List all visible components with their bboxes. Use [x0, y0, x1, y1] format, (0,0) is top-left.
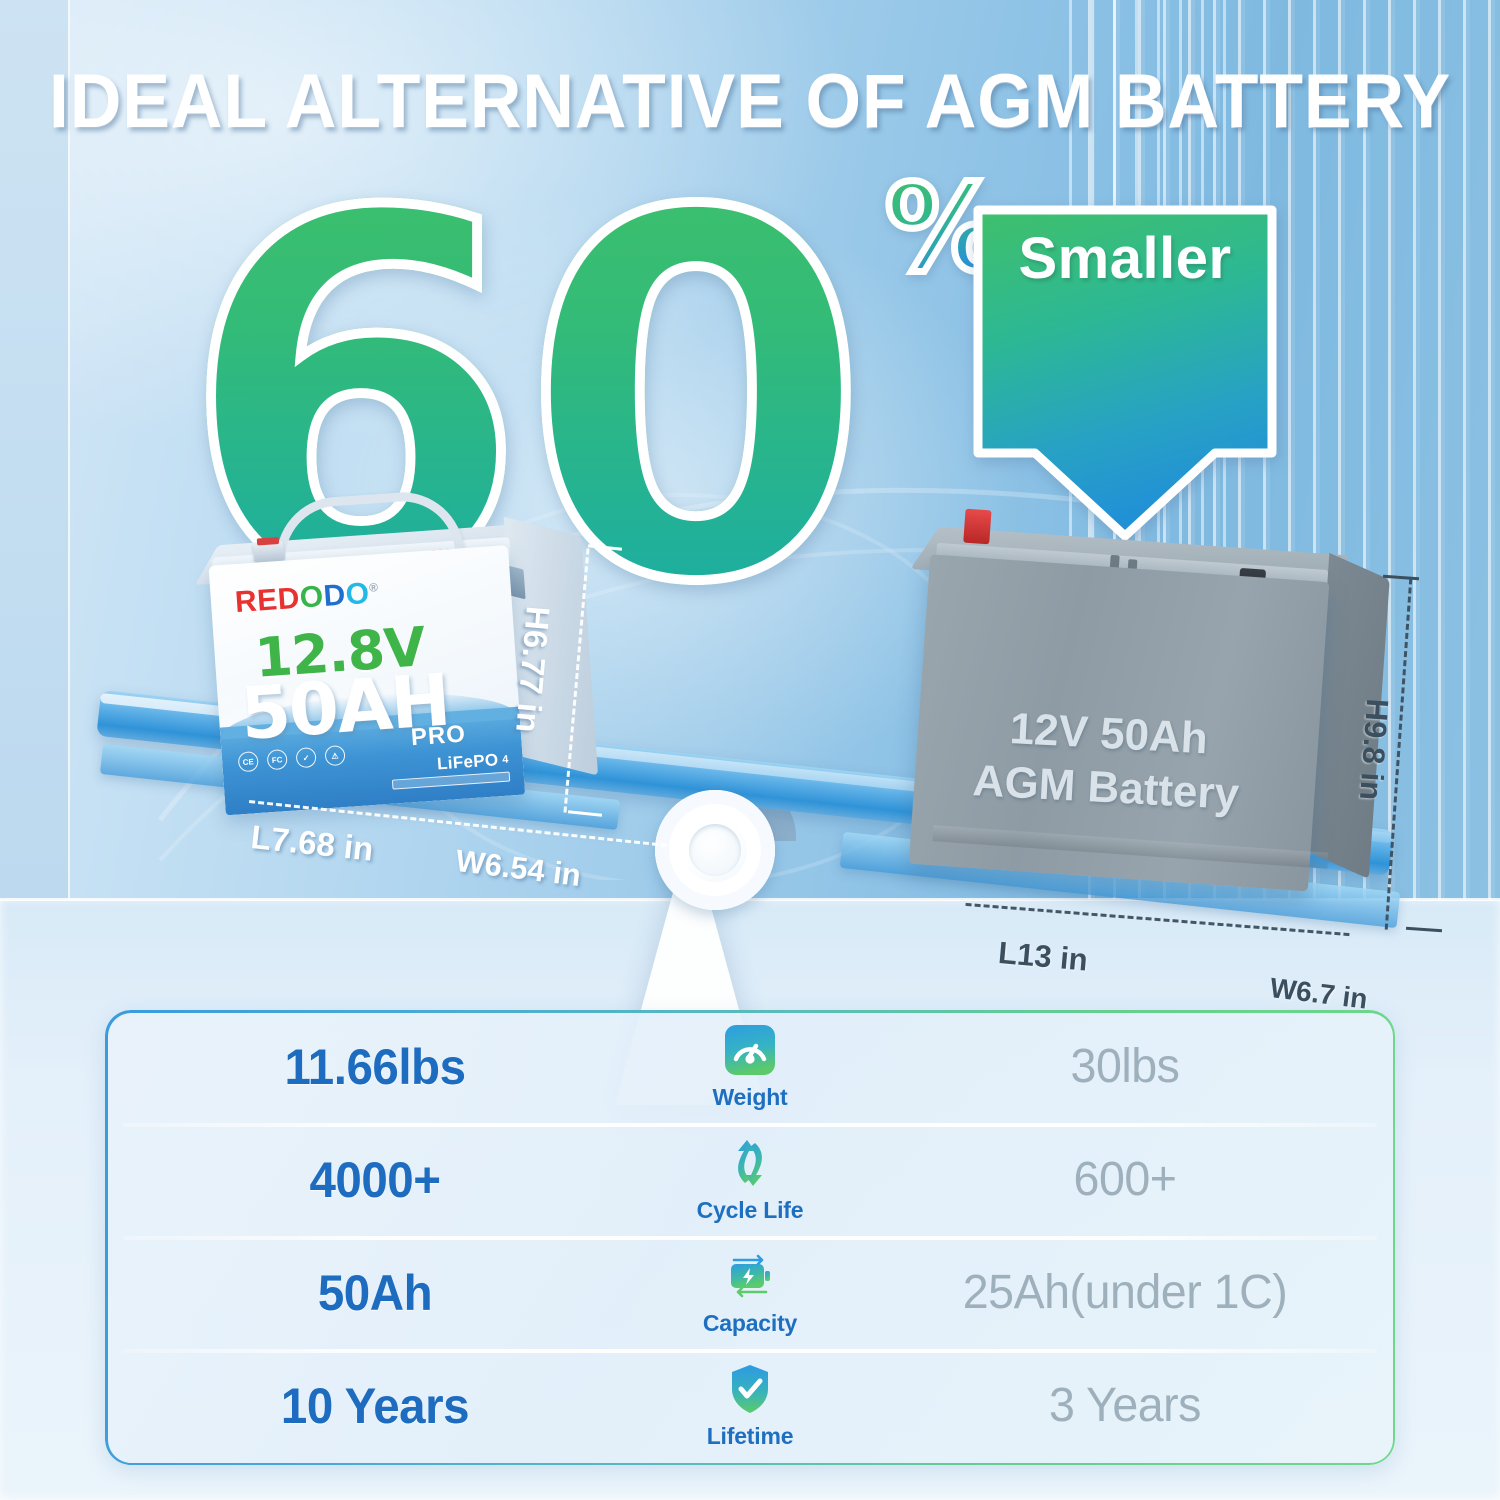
capacity-metric: Capacity [645, 1248, 855, 1337]
lifepo4-positive-cap [257, 537, 279, 546]
smaller-callout-label: Smaller [960, 198, 1290, 318]
lifepo4-front-label: REDODO® 12.8V 50AH PRO CE FC ✓ ⚠ LiFePO4 [209, 545, 526, 815]
weight-metric: Weight [645, 1022, 855, 1111]
cycle-life-metric: Cycle Life [645, 1135, 855, 1224]
fulcrum-pivot-disk [655, 790, 775, 910]
agm-label: 12V 50Ah AGM Battery [940, 699, 1275, 824]
shield-check-icon [722, 1361, 778, 1417]
cycle-life-agm-value: 600+ [863, 1152, 1387, 1207]
lifepo4-chemistry-text: LiFePO [436, 750, 499, 774]
cert-badge-check: ✓ [295, 747, 316, 768]
lifetime-metric-label: Lifetime [707, 1423, 794, 1450]
weight-lifepo4-value: 11.66lbs [119, 1038, 632, 1096]
comparison-row-weight: 11.66lbs Weight 30lbs [105, 1010, 1395, 1123]
logo-o1: O [299, 580, 325, 615]
cert-badge-ce: CE [238, 751, 259, 772]
lifetime-agm-value: 3 Years [863, 1378, 1387, 1433]
capacity-lifepo4-value: 50Ah [119, 1264, 632, 1322]
lifepo4-positive-terminal [253, 541, 284, 563]
comparison-row-cycle-life: 4000+ Cycle Life 600+ [105, 1123, 1395, 1236]
agm-length-label: L13 in [997, 935, 1089, 979]
capacity-metric-label: Capacity [703, 1310, 797, 1337]
lifepo4-chemistry-subscript: 4 [502, 754, 509, 766]
battery-bolt-icon [722, 1248, 778, 1304]
logo-o2: O [345, 577, 371, 612]
capacity-agm-value: 25Ah(under 1C) [863, 1265, 1387, 1320]
lifetime-lifepo4-value: 10 Years [119, 1377, 632, 1435]
logo-registered-mark: ® [369, 580, 379, 595]
cycle-arrows-icon [722, 1135, 778, 1191]
weight-gauge-icon [722, 1022, 778, 1078]
redodo-logo: REDODO® [234, 576, 380, 620]
comparison-row-capacity: 50Ah Capacity 25Ah(under 1C) [105, 1236, 1395, 1349]
comparison-row-lifetime: 10 Years Lifetime 3 Years [105, 1349, 1395, 1462]
cycle-life-lifepo4-value: 4000+ [119, 1151, 632, 1209]
logo-red: RED [234, 582, 301, 619]
cycle-life-metric-label: Cycle Life [697, 1197, 804, 1224]
comparison-card: 11.66lbs Weight 30lbs 4000+ [105, 1010, 1395, 1465]
lifetime-metric: Lifetime [645, 1361, 855, 1450]
cert-badge-fc: FC [267, 749, 288, 770]
weight-metric-label: Weight [712, 1084, 787, 1111]
logo-d: D [322, 579, 346, 613]
agm-battery: 12V 50Ah AGM Battery [887, 493, 1414, 927]
agm-height-label: H9.8 in [1352, 697, 1395, 801]
weight-agm-value: 30lbs [863, 1039, 1387, 1094]
agm-case-ribs [932, 825, 1328, 869]
lifepo4-tier: PRO [410, 720, 467, 752]
agm-case: 12V 50Ah AGM Battery [909, 554, 1330, 891]
agm-positive-terminal [963, 509, 991, 545]
smaller-callout-arrow: Smaller [960, 198, 1290, 548]
cert-badge-warning: ⚠ [324, 745, 345, 766]
